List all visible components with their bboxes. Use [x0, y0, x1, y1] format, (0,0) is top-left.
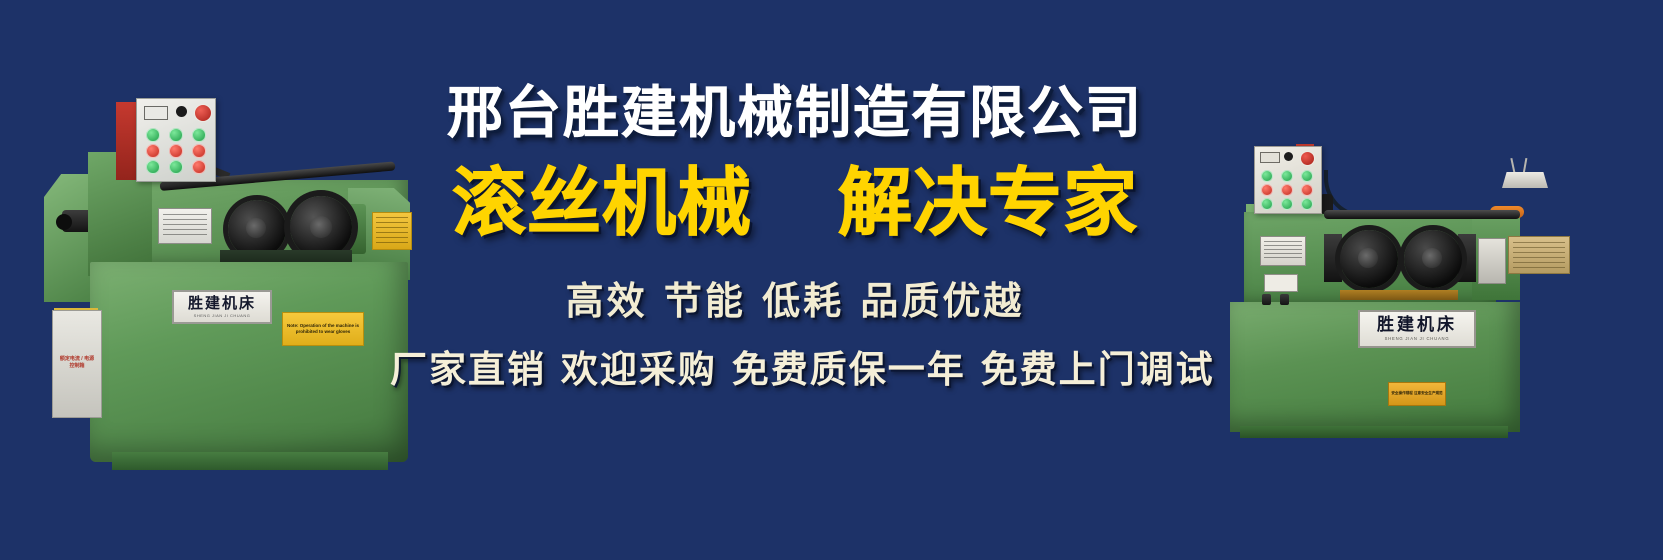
machine-left-roller-hub-b — [310, 216, 332, 238]
headline: 滚丝机械 解决专家 — [390, 166, 1200, 240]
machine-right-work-tray — [1340, 290, 1458, 300]
machine-right-top-shaft — [1324, 210, 1520, 219]
machine-right-knob-2 — [1280, 294, 1289, 305]
machine-left-button-2 — [169, 128, 183, 142]
machine-right-valve-unit — [1478, 238, 1506, 284]
machine-right-top-tool — [1502, 172, 1548, 188]
machine-left-spec-plate — [158, 208, 212, 244]
machine-left-warning-sticker: Note: Operation of the machine is prohib… — [282, 312, 364, 346]
machine-left-button-9 — [192, 160, 206, 174]
machine-left-base-foot — [112, 452, 388, 470]
machine-left-button-6 — [192, 144, 206, 158]
emergency-stop-icon-right — [1300, 151, 1315, 166]
machine-right-warning-sticker: 安全操作规程 注意安全生产规范 — [1388, 382, 1446, 406]
machine-right-selector-knob — [1284, 152, 1293, 161]
machine-right-antenna-a — [1510, 158, 1515, 174]
machine-left-brand-en: SHENG JIAN JI CHUANG — [194, 313, 251, 318]
machine-right-gold-plate — [1508, 236, 1570, 274]
machine-photo-right: 胜建机床 SHENG JIAN JI CHUANG 安全操作规程 注意安全生产规… — [1172, 126, 1572, 456]
machine-left-button-grid — [140, 126, 212, 174]
machine-right-small-label — [1264, 274, 1298, 292]
machine-right-button-1 — [1261, 170, 1273, 182]
machine-right-spec-plate — [1260, 236, 1306, 266]
machine-left-selector-knob — [176, 106, 187, 117]
machine-right-button-8 — [1281, 198, 1293, 210]
machine-right-display-meter — [1260, 152, 1280, 163]
machine-left-roller-hub-a — [246, 218, 266, 238]
machine-photo-left: 额定电流 / 电源控制箱 胜建机床 SHENG JIAN JI CHUANG N… — [32, 92, 424, 484]
machine-right-knob-row — [1262, 294, 1302, 304]
machine-left-button-7 — [146, 160, 160, 174]
machine-right-button-6 — [1301, 184, 1313, 196]
machine-right-brand-plate: 胜建机床 SHENG JIAN JI CHUANG — [1358, 310, 1476, 348]
machine-left-axle-cap — [56, 214, 72, 230]
tagline-secondary: 厂家直销 欢迎采购 免费质保一年 免费上门调试 — [390, 339, 1200, 393]
company-name: 邢台胜建机械制造有限公司 — [390, 85, 1200, 144]
headline-left: 滚丝机械 — [452, 166, 752, 240]
machine-right-roller-hub-a — [1358, 248, 1378, 268]
machine-left-sidebox-label-wrap: 额定电流 / 电源控制箱 — [58, 348, 96, 378]
machine-right-warning-text: 安全操作规程 注意安全生产规范 — [1391, 391, 1442, 396]
emergency-stop-icon-left — [194, 104, 212, 122]
machine-right-button-4 — [1261, 184, 1273, 196]
machine-right-antenna-b — [1523, 158, 1528, 174]
machine-right-button-9 — [1301, 198, 1313, 210]
machine-left-button-1 — [146, 128, 160, 142]
machine-left-button-8 — [169, 160, 183, 174]
machine-left-sidebox-label: 额定电流 / 电源控制箱 — [58, 356, 96, 371]
machine-right-brand-cn: 胜建机床 — [1377, 317, 1457, 334]
tagline-primary: 高效 节能 低耗 品质优越 — [390, 270, 1200, 325]
machine-right-button-2 — [1281, 170, 1293, 182]
machine-right-roller-hub-b — [1422, 248, 1442, 268]
machine-right-button-grid — [1256, 168, 1318, 210]
banner-text-block: 邢台胜建机械制造有限公司 滚丝机械 解决专家 高效 节能 低耗 品质优越 厂家直… — [390, 85, 1200, 393]
machine-left-button-4 — [146, 144, 160, 158]
machine-left-brand-plate: 胜建机床 SHENG JIAN JI CHUANG — [172, 290, 272, 324]
machine-left-warning-text: Note: Operation of the machine is prohib… — [285, 323, 361, 335]
machine-right-button-7 — [1261, 198, 1273, 210]
machine-left-display-meter — [144, 106, 168, 120]
machine-left-button-5 — [169, 144, 183, 158]
machine-left-button-3 — [192, 128, 206, 142]
machine-right-brand-en: SHENG JIAN JI CHUANG — [1385, 336, 1450, 341]
promo-banner: 额定电流 / 电源控制箱 胜建机床 SHENG JIAN JI CHUANG N… — [0, 0, 1663, 560]
machine-right-knob-1 — [1262, 294, 1271, 305]
headline-right: 解决专家 — [838, 166, 1138, 240]
machine-right-button-5 — [1281, 184, 1293, 196]
machine-right-button-3 — [1301, 170, 1313, 182]
machine-right-base-foot — [1240, 426, 1508, 438]
machine-left-brand-cn: 胜建机床 — [188, 296, 256, 311]
